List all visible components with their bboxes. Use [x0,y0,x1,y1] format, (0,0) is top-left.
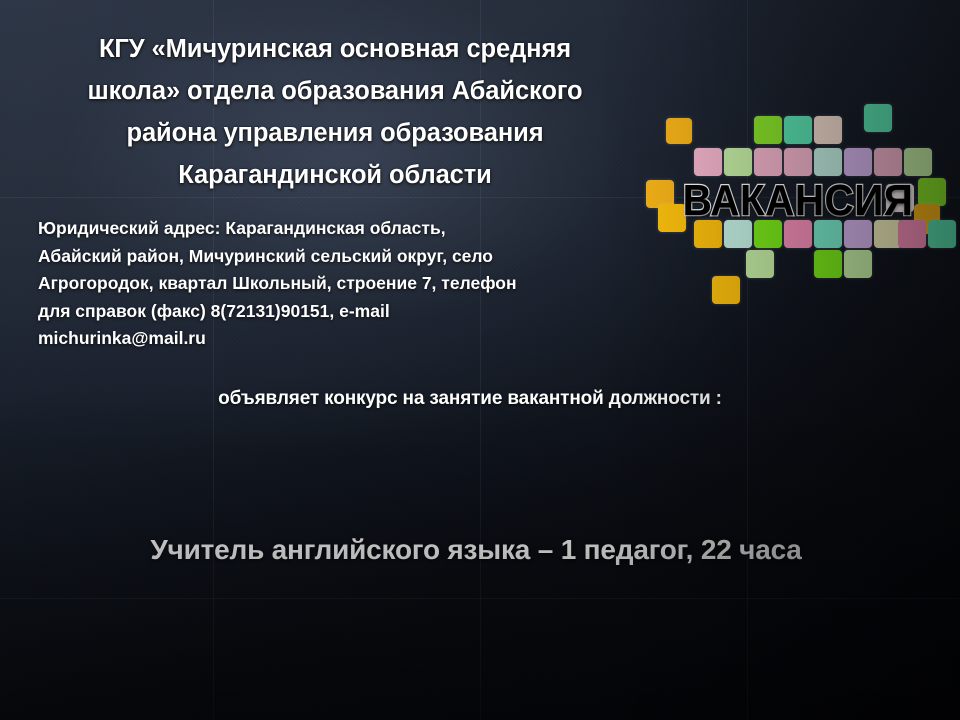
mosaic-tile [928,220,956,248]
mosaic-tile [746,250,774,278]
mosaic-tile [712,276,740,304]
vacancy-wordmark: ВАКАНСИЯ [649,178,947,224]
mosaic-tile [754,116,782,144]
vacancy-mosaic-graphic: ВАКАНСИЯ [636,108,960,308]
mosaic-tile [694,148,722,176]
title-line: Карагандинской области [30,154,640,196]
announcement-text: объявляет конкурс на занятие вакантной д… [0,388,940,410]
address-line: для справок (факс) 8(72131)90151, e-mail [38,298,630,326]
title-line: района управления образования [30,112,640,154]
legal-address-block: Юридический адрес: Карагандинская област… [38,215,630,353]
mosaic-tile [784,116,812,144]
mosaic-tile [814,116,842,144]
mosaic-tile [844,148,872,176]
address-email-line: michurinka@mail.ru [38,325,630,353]
address-line: Абайский район, Мичуринский сельский окр… [38,243,630,271]
address-line: Агрогородок, квартал Школьный, строение … [38,270,630,298]
mosaic-tile [814,250,842,278]
mosaic-tile [874,148,902,176]
mosaic-tile [754,148,782,176]
mosaic-tile [724,148,752,176]
address-line: Юридический адрес: Карагандинская област… [38,215,630,243]
institution-title: КГУ «Мичуринская основная средняя школа»… [30,28,640,196]
gridline-horizontal-2 [0,598,960,599]
mosaic-tile [666,118,692,144]
slide-canvas: КГУ «Мичуринская основная средняя школа»… [0,0,960,720]
title-line: КГУ «Мичуринская основная средняя [30,28,640,70]
mosaic-tile [814,148,842,176]
vacancy-text: Учитель английского языка – 1 педагог, 2… [0,534,952,566]
mosaic-tile [904,148,932,176]
mosaic-tile [784,148,812,176]
mosaic-tile [844,250,872,278]
title-line: школа» отдела образования Абайского [30,70,640,112]
mosaic-tile [864,104,892,132]
